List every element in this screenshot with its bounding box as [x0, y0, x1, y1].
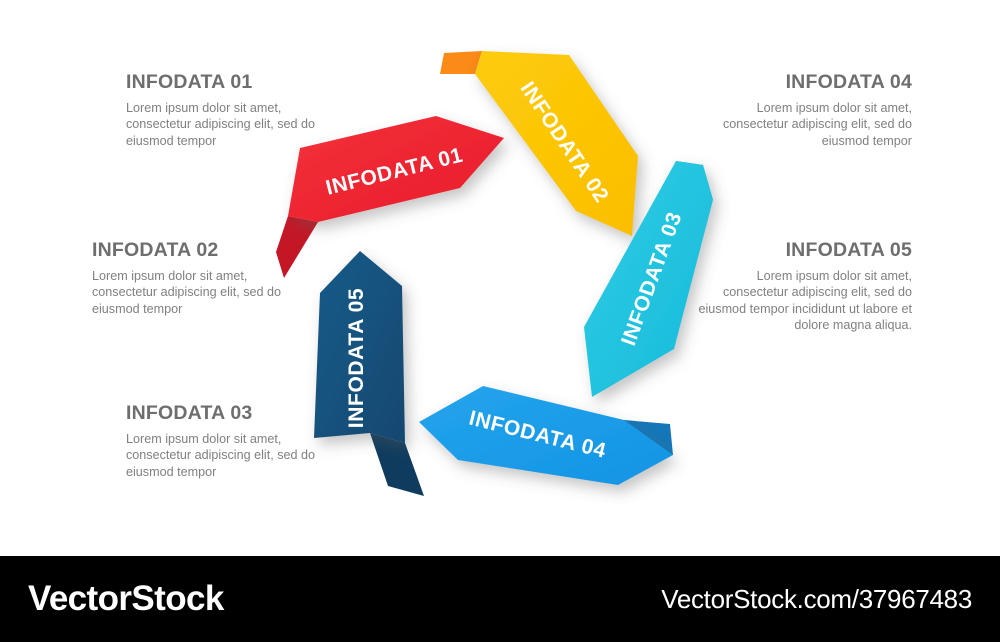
arrow-segment-05[interactable]: INFODATA 05 — [314, 251, 424, 496]
vectorstock-url: VectorStock.com/37967483 — [661, 584, 972, 615]
info-block-02-title: INFODATA 02 — [92, 239, 292, 262]
infographic-canvas: INFODATA 01 Lorem ipsum dolor sit amet, … — [0, 0, 1000, 556]
arrow-02-fold — [440, 51, 482, 74]
info-block-02: INFODATA 02 Lorem ipsum dolor sit amet, … — [92, 239, 292, 317]
info-block-02-body: Lorem ipsum dolor sit amet, consectetur … — [92, 268, 292, 317]
arrow-segment-01[interactable]: INFODATA 01 — [276, 116, 504, 278]
vectorstock-logo: VectorStock — [28, 579, 224, 619]
arrow-05-fold — [370, 433, 424, 496]
pinwheel-diagram: INFODATA 05 INFODATA 01 INFODATA 02 INFO… — [276, 38, 736, 518]
arrow-05-label: INFODATA 05 — [345, 288, 368, 428]
arrow-segment-04[interactable]: INFODATA 04 — [419, 386, 673, 485]
arrow-01-fold — [276, 216, 318, 278]
watermark-footer: VectorStock VectorStock.com/37967483 — [0, 556, 1000, 642]
